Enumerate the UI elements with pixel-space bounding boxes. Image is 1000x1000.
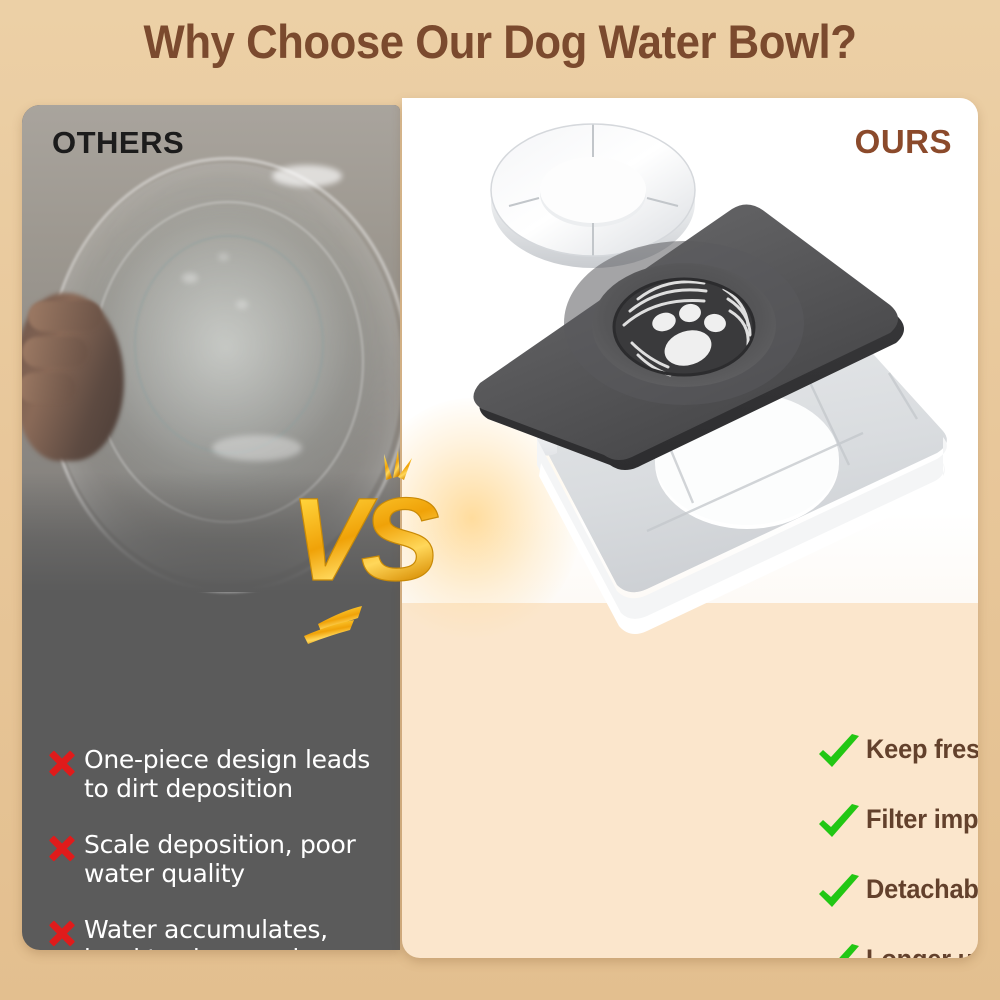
floating-disk bbox=[452, 203, 922, 503]
list-item: Keep fresh, great-tasting water bbox=[814, 734, 978, 774]
list-item: Water accumulates, hard to clean and unh… bbox=[40, 915, 390, 950]
check-icon bbox=[814, 874, 866, 914]
versus-label: VS bbox=[290, 474, 439, 606]
list-item: Scale deposition, poor water quality bbox=[40, 830, 390, 888]
pro-text: Filter impurities, clean water source bbox=[866, 804, 978, 835]
con-text: One-piece design leads to dirt depositio… bbox=[84, 745, 384, 803]
cross-icon bbox=[40, 832, 84, 866]
con-text: Scale deposition, poor water quality bbox=[84, 830, 384, 888]
bowl-highlight-1 bbox=[272, 165, 342, 187]
list-item: Detachable floating disk & easy to clean bbox=[814, 874, 978, 914]
pro-text: Longer use of no spill water bowl bbox=[866, 944, 978, 958]
bowl-speck-2 bbox=[236, 300, 248, 309]
pro-text: Keep fresh, great-tasting water bbox=[866, 734, 978, 765]
pros-list: Keep fresh, great-tasting water Filter i… bbox=[814, 734, 978, 958]
bowl-speck-1 bbox=[182, 273, 198, 283]
list-item: Filter impurities, clean water source bbox=[814, 804, 978, 844]
ours-photo bbox=[402, 98, 978, 603]
glass-bowl-inner-ring-2 bbox=[134, 235, 324, 454]
ours-label: OURS bbox=[855, 123, 952, 161]
versus-flare: VS bbox=[288, 448, 468, 648]
others-label: OTHERS bbox=[52, 125, 184, 161]
finger-3 bbox=[22, 373, 76, 403]
check-icon bbox=[814, 734, 866, 774]
con-text: Water accumulates, hard to clean and unh… bbox=[84, 915, 384, 950]
page-title: Why Choose Our Dog Water Bowl? bbox=[35, 14, 965, 69]
infographic-page: Why Choose Our Dog Water Bowl? OTHERS On… bbox=[0, 0, 1000, 1000]
pro-text: Detachable floating disk & easy to clean bbox=[866, 874, 978, 905]
ours-panel: OURS Keep fresh, great-tasting water Fil… bbox=[402, 98, 978, 958]
cross-icon bbox=[40, 917, 84, 950]
check-icon bbox=[814, 804, 866, 844]
check-icon bbox=[814, 944, 866, 958]
cons-list: One-piece design leads to dirt depositio… bbox=[40, 745, 390, 950]
finger-1 bbox=[28, 301, 102, 331]
bowl-speck-3 bbox=[218, 253, 229, 261]
versus-badge: VS bbox=[288, 448, 468, 648]
cross-icon bbox=[40, 747, 84, 781]
list-item: One-piece design leads to dirt depositio… bbox=[40, 745, 390, 803]
finger-2 bbox=[22, 337, 88, 367]
list-item: Longer use of no spill water bowl bbox=[814, 944, 978, 958]
